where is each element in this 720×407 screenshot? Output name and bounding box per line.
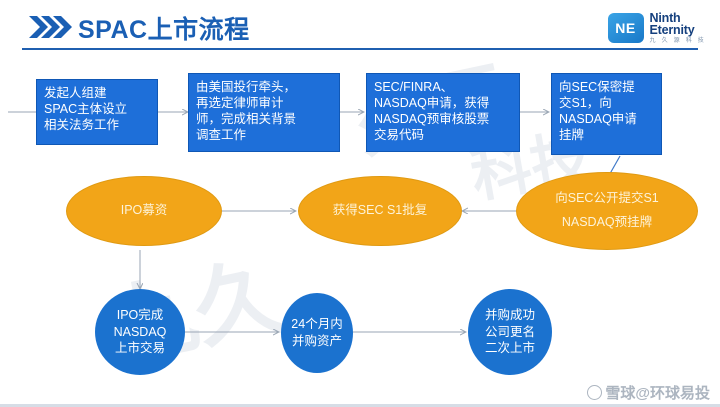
logo-badge: NE	[608, 13, 644, 43]
flow-ellipse-s1-approval[interactable]: 获得SEC S1批复	[298, 176, 462, 246]
logo-text: Ninth Eternity 九 久 源 科 技	[650, 12, 706, 45]
company-logo: NE Ninth Eternity 九 久 源 科 技	[608, 8, 706, 48]
logo-line-2: Eternity	[650, 24, 706, 37]
flow-circle-24-months[interactable]: 24个月内 并购资产	[281, 293, 353, 373]
slide-header: SPAC上市流程 NE Ninth Eternity 九 久 源 科 技	[0, 0, 720, 55]
slide-canvas: 九久 久源 科技 SPAC上市流程 NE Ninth Eternity 九 久 …	[0, 0, 720, 407]
flow-ellipse-ipo-raise-label: IPO募资	[121, 199, 168, 223]
flow-box-underwriter[interactable]: 由美国投行牵头， 再选定律师审计 师，完成相关背景 调查工作	[188, 73, 340, 152]
flow-box-confidential-s1-label: 向SEC保密提 交S1，向 NASDAQ申请 挂牌	[559, 79, 637, 143]
flow-box-sec-finra-label: SEC/FINRA、 NASDAQ申请，获得 NASDAQ预审核股票 交易代码	[374, 79, 489, 143]
flow-box-confidential-s1[interactable]: 向SEC保密提 交S1，向 NASDAQ申请 挂牌	[551, 73, 662, 155]
source-watermark: 雪球@环球易投	[587, 382, 710, 403]
watermark-ring-icon	[587, 385, 602, 400]
flow-circle-ipo-listed[interactable]: IPO完成 NASDAQ 上市交易	[95, 289, 185, 375]
flow-box-sec-finra[interactable]: SEC/FINRA、 NASDAQ申请，获得 NASDAQ预审核股票 交易代码	[366, 73, 520, 152]
flow-box-initiator[interactable]: 发起人组建 SPAC主体设立 相关法务工作	[36, 79, 158, 145]
source-watermark-label: 雪球@环球易投	[605, 382, 710, 403]
flow-ellipse-public-s1[interactable]: 向SEC公开提交S1 NASDAQ预挂牌	[516, 172, 698, 250]
flow-ellipse-public-s1-label: 向SEC公开提交S1 NASDAQ预挂牌	[555, 187, 659, 235]
logo-subtitle: 九 久 源 科 技	[650, 38, 706, 44]
flow-box-underwriter-label: 由美国投行牵头， 再选定律师审计 师，完成相关背景 调查工作	[196, 79, 296, 143]
flow-circle-ipo-listed-label: IPO完成 NASDAQ 上市交易	[114, 307, 167, 357]
flow-box-initiator-label: 发起人组建 SPAC主体设立 相关法务工作	[44, 85, 127, 133]
flow-ellipse-ipo-raise[interactable]: IPO募资	[66, 176, 222, 246]
page-title: SPAC上市流程	[78, 10, 250, 46]
flow-circle-merger-success[interactable]: 并购成功 公司更名 二次上市	[468, 289, 552, 375]
triple-chevron-right-icon	[28, 14, 72, 40]
header-divider	[22, 48, 698, 50]
flow-circle-merger-success-label: 并购成功 公司更名 二次上市	[485, 307, 535, 357]
flow-circle-24-months-label: 24个月内 并购资产	[291, 316, 342, 350]
flow-ellipse-s1-approval-label: 获得SEC S1批复	[333, 199, 427, 223]
